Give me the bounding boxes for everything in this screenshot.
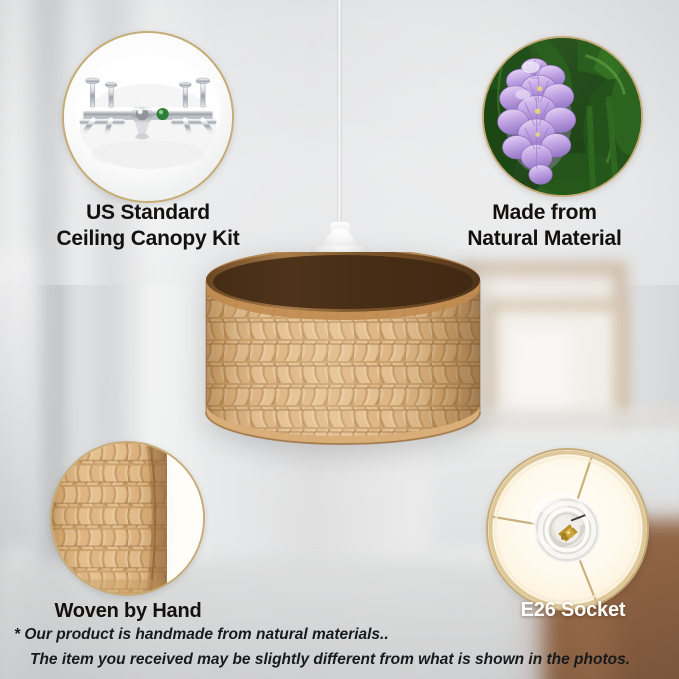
e26-socket-topview-photo[interactable] (486, 448, 649, 611)
weave-closeup-illustration (52, 443, 203, 594)
water-hyacinth-flower-photo[interactable] (482, 36, 643, 197)
caption-e26-socket: E26 Socket (450, 598, 679, 622)
caption-woven-by-hand: Woven by Hand (0, 599, 256, 623)
water-hyacinth-illustration (484, 38, 641, 195)
disclaimer-line-2: The item you received may be slightly di… (0, 647, 679, 672)
caption-natural-material: Made from Natural Material (410, 200, 679, 251)
canopy-kit-illustration (64, 33, 232, 201)
e26-socket-illustration (488, 450, 647, 609)
infographic-canvas: US Standard Ceiling Canopy Kit (0, 0, 679, 679)
ceiling-canopy-kit-photo[interactable] (62, 31, 234, 203)
caption-ceiling-canopy: US Standard Ceiling Canopy Kit (0, 200, 296, 251)
lamp-shade-illustration (198, 252, 488, 464)
disclaimer: * Our product is handmade from natural m… (0, 622, 679, 672)
pendant-cord (338, 0, 341, 232)
main-lamp-shade (198, 252, 488, 464)
disclaimer-line-1: * Our product is handmade from natural m… (0, 622, 679, 647)
woven-texture-closeup-photo[interactable] (50, 441, 205, 596)
